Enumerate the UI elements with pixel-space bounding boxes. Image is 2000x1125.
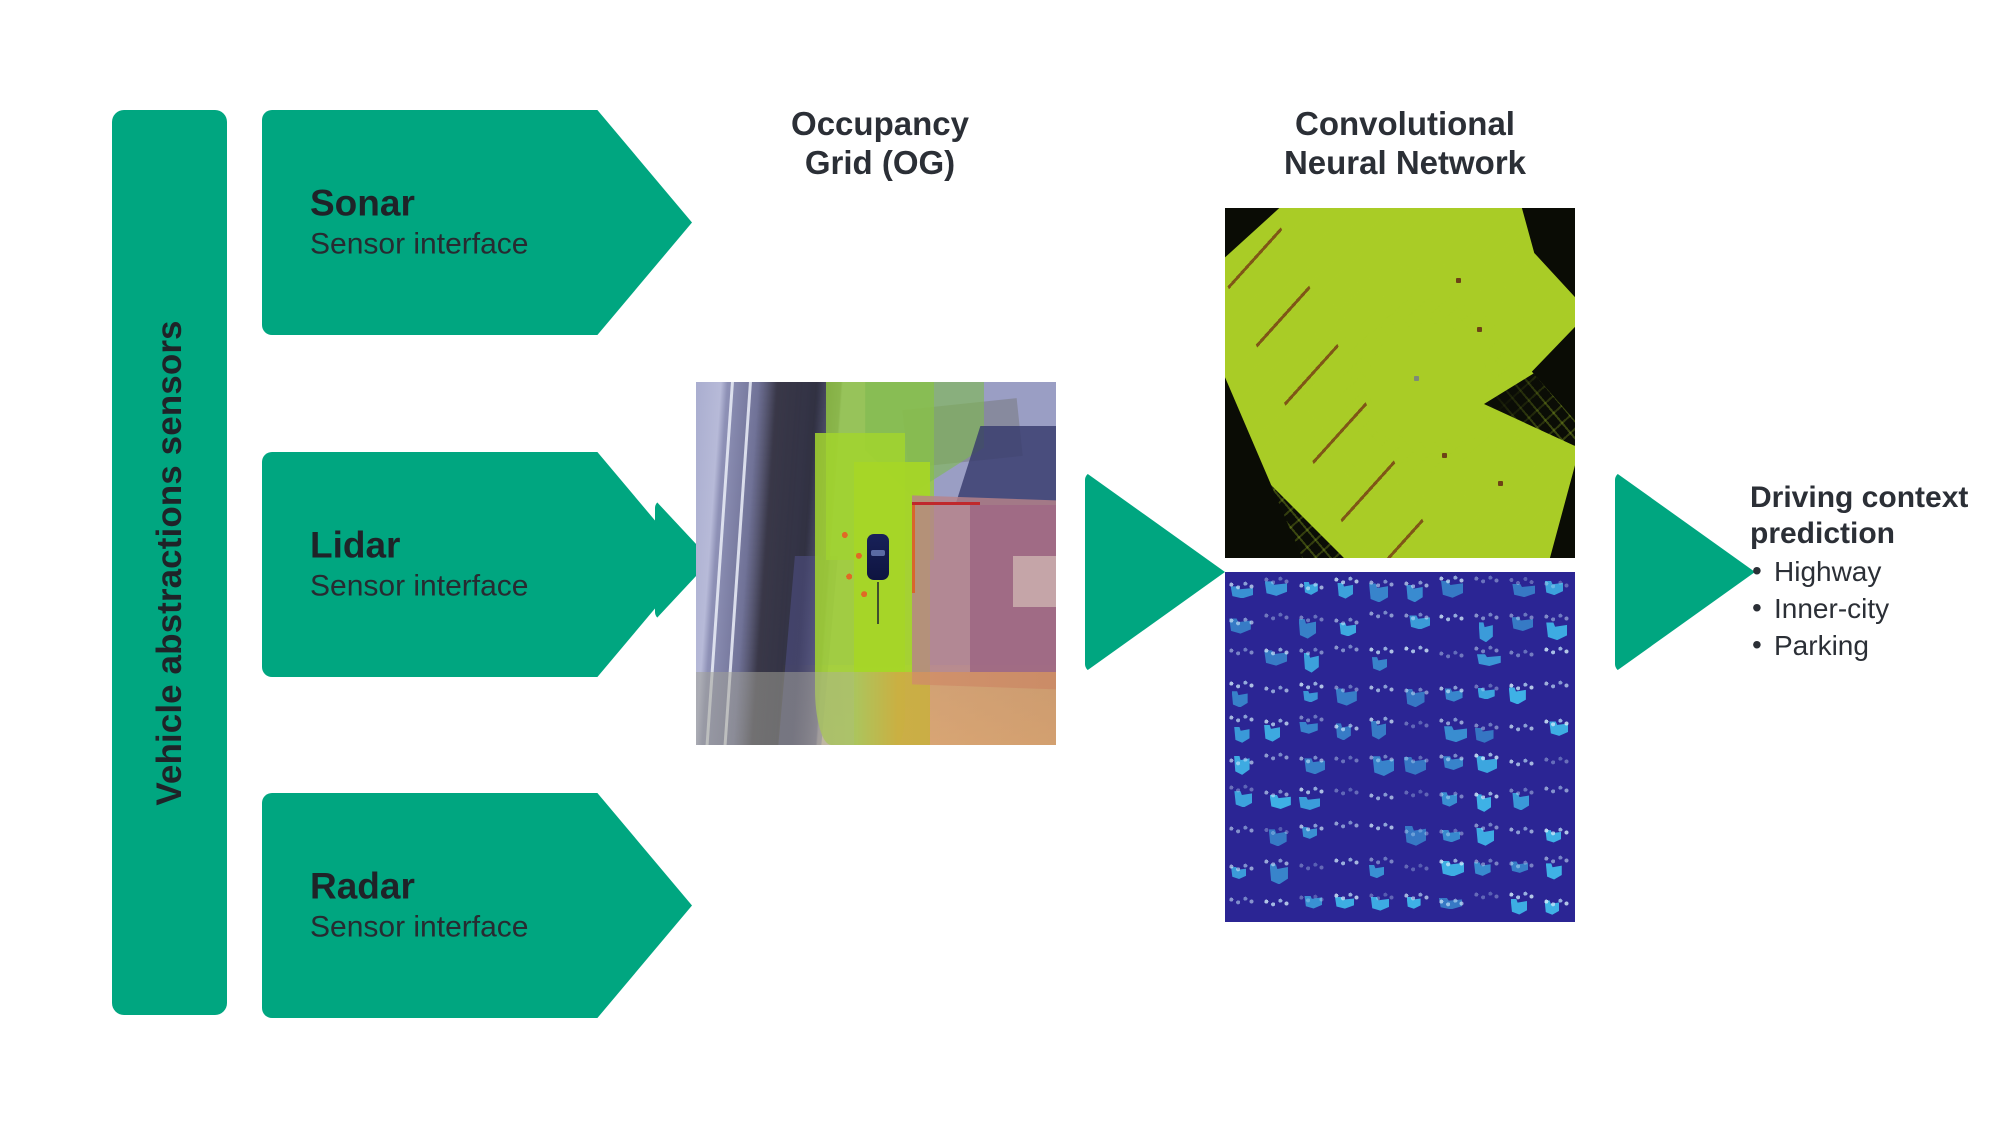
ray-dot-4 (1498, 481, 1503, 486)
cnn-feature-specks (1438, 717, 1466, 726)
cnn-feature-map-cell (1295, 747, 1330, 782)
cnn-feature-specks (1298, 614, 1326, 623)
cnn-feature-specks (1543, 613, 1571, 622)
cnn-feature-map-cell (1400, 817, 1435, 852)
cnn-feature-specks (1298, 582, 1326, 591)
cnn-feature-map-cell (1435, 782, 1470, 817)
cnn-feature-specks (1228, 617, 1256, 626)
cnn-feature-specks (1333, 857, 1361, 866)
og-occupied-edge-orange (912, 505, 915, 592)
cnn-feature-map-cell (1295, 642, 1330, 677)
cnn-feature-specks (1473, 683, 1501, 692)
cnn-feature-specks (1333, 755, 1361, 764)
cnn-feature-specks (1473, 575, 1501, 584)
cnn-feature-map-cell (1505, 887, 1540, 922)
cnn-feature-map-cell (1400, 572, 1435, 607)
cnn-feature-specks (1543, 785, 1571, 794)
cnn-feature-map-cell (1225, 677, 1260, 712)
cnn-feature-map-cell (1295, 712, 1330, 747)
og-bottom-band (696, 672, 1056, 745)
cnn-feature-specks (1403, 612, 1431, 621)
cnn-feature-specks (1263, 612, 1291, 621)
cnn-feature-specks (1368, 610, 1396, 619)
vehicle-abstractions-label: Vehicle abstractions sensors (150, 320, 190, 805)
cnn-feature-specks (1228, 647, 1256, 656)
cnn-feature-map-cell (1330, 607, 1365, 642)
cnn-feature-map-cell (1225, 852, 1260, 887)
sensor-block-sonar[interactable]: Sonar Sensor interface (262, 110, 692, 335)
cnn-feature-specks (1263, 576, 1291, 585)
driving-context-prediction-block: Driving context prediction HighwayInner-… (1750, 480, 2000, 665)
cnn-feature-map-cell (1260, 572, 1295, 607)
ray-dot-3 (1442, 453, 1447, 458)
cnn-feature-specks (1403, 645, 1431, 654)
cnn-feature-map-cell (1435, 887, 1470, 922)
cnn-feature-map-cell (1260, 712, 1295, 747)
cnn-feature-map-cell (1505, 642, 1540, 677)
cnn-feature-map-cell (1260, 607, 1295, 642)
cnn-feature-specks (1298, 647, 1326, 656)
cnn-feature-map-cell (1330, 817, 1365, 852)
occupancy-grid-caption: Occupancy Grid (OG) (700, 105, 1060, 183)
cnn-feature-blob (1304, 653, 1319, 673)
cnn-feature-map-cell (1540, 782, 1575, 817)
cnn-feature-map-cell (1400, 782, 1435, 817)
cnn-feature-blob (1299, 797, 1321, 810)
cnn-feature-map-cell (1470, 817, 1505, 852)
cnn-feature-specks (1473, 791, 1501, 800)
cnn-feature-specks (1228, 784, 1256, 793)
ray-ego-marker (1414, 376, 1419, 381)
cnn-feature-map-cell (1260, 747, 1295, 782)
cnn-feature-specks (1543, 898, 1571, 907)
cnn-feature-specks (1368, 822, 1396, 831)
cnn-feature-map-cell (1540, 747, 1575, 782)
cnn-feature-specks (1508, 758, 1536, 767)
cnn-feature-map-cell (1365, 572, 1400, 607)
cnn-feature-specks (1508, 826, 1536, 835)
og-ego-vehicle-icon (867, 534, 889, 580)
cnn-feature-blob (1299, 722, 1317, 734)
cnn-feature-specks (1228, 757, 1256, 766)
cnn-feature-specks (1298, 894, 1326, 903)
cnn-feature-specks (1298, 714, 1326, 723)
cnn-feature-specks (1333, 787, 1361, 796)
cnn-feature-specks (1368, 716, 1396, 725)
cnn-feature-map-cell (1400, 747, 1435, 782)
cnn-feature-specks (1368, 892, 1396, 901)
sensor-subtitle-radar: Sensor interface (310, 908, 528, 946)
cnn-feature-specks (1263, 718, 1291, 727)
sensor-subtitle-sonar: Sensor interface (310, 225, 528, 263)
cnn-feature-map-cell (1295, 572, 1330, 607)
cnn-feature-specks (1543, 580, 1571, 589)
cnn-feature-map-cell (1435, 712, 1470, 747)
cnn-feature-specks (1228, 581, 1256, 590)
cnn-feature-map-cell (1295, 817, 1330, 852)
cnn-feature-specks (1438, 575, 1466, 584)
cnn-feature-map-cell (1225, 712, 1260, 747)
og-ego-trajectory (877, 582, 879, 624)
cnn-feature-specks (1473, 645, 1501, 654)
cnn-feature-specks (1298, 862, 1326, 871)
cnn-feature-specks (1298, 681, 1326, 690)
cnn-feature-specks (1298, 786, 1326, 795)
cnn-feature-map-cell (1505, 852, 1540, 887)
cnn-feature-blob (1303, 691, 1318, 703)
cnn-feature-map-cell (1505, 747, 1540, 782)
cnn-feature-blob (1546, 863, 1562, 879)
cnn-feature-map-cell (1400, 887, 1435, 922)
cnn-feature-specks (1473, 612, 1501, 621)
cnn-ray-canvas (1225, 208, 1575, 558)
cnn-feature-map-cell (1225, 607, 1260, 642)
cnn-feature-map-cell (1470, 642, 1505, 677)
cnn-feature-map-cell (1400, 852, 1435, 887)
cnn-feature-map-cell (1470, 712, 1505, 747)
cnn-feature-specks (1438, 613, 1466, 622)
cnn-feature-specks (1403, 789, 1431, 798)
cnn-feature-specks (1298, 823, 1326, 832)
cnn-feature-blob (1369, 865, 1384, 878)
cnn-feature-map-cell (1365, 852, 1400, 887)
cnn-feature-specks (1333, 892, 1361, 901)
cnn-feature-map-cell (1330, 677, 1365, 712)
cnn-feature-specks (1403, 828, 1431, 837)
cnn-feature-blob (1479, 622, 1493, 642)
sensor-block-radar-text: Radar Sensor interface (310, 865, 528, 946)
cnn-feature-map-cell (1505, 572, 1540, 607)
cnn-feature-map-cell (1330, 747, 1365, 782)
cnn-feature-specks (1333, 684, 1361, 693)
sensor-name-radar: Radar (310, 865, 528, 906)
cnn-feature-specks (1333, 723, 1361, 732)
cnn-feature-map-cell (1365, 747, 1400, 782)
sensor-block-radar[interactable]: Radar Sensor interface (262, 793, 692, 1018)
cnn-feature-map-cell (1540, 642, 1575, 677)
cnn-feature-map-cell (1365, 712, 1400, 747)
cnn-feature-blob (1372, 657, 1387, 671)
cnn-feature-specks (1403, 580, 1431, 589)
cnn-feature-map-cell (1435, 607, 1470, 642)
cnn-feature-specks (1438, 791, 1466, 800)
cnn-feature-specks (1543, 827, 1571, 836)
cnn-feature-map-cell (1330, 712, 1365, 747)
cnn-feature-specks (1263, 647, 1291, 656)
cnn-feature-map-cell (1505, 607, 1540, 642)
cnn-feature-specks (1438, 650, 1466, 659)
cnn-feature-specks (1263, 685, 1291, 694)
output-title: Driving context prediction (1750, 480, 2000, 552)
cnn-feature-specks (1333, 617, 1361, 626)
cnn-feature-specks (1368, 792, 1396, 801)
cnn-feature-blob (1264, 725, 1280, 742)
occupancy-grid-caption-line1: Occupancy (700, 105, 1060, 144)
cnn-feature-specks (1438, 858, 1466, 867)
cnn-feature-specks (1543, 680, 1571, 689)
occupancy-grid-caption-line2: Grid (OG) (700, 144, 1060, 183)
cnn-feature-specks (1263, 789, 1291, 798)
cnn-feature-specks (1473, 858, 1501, 867)
cnn-feature-specks (1403, 720, 1431, 729)
cnn-feature-map-cell (1295, 677, 1330, 712)
cnn-feature-map-cell (1505, 712, 1540, 747)
cnn-feature-specks (1508, 612, 1536, 621)
cnn-caption-line1: Convolutional (1200, 105, 1610, 144)
cnn-feature-map-cell (1505, 677, 1540, 712)
cnn-feature-specks (1333, 644, 1361, 653)
sensor-name-sonar: Sonar (310, 182, 528, 223)
vehicle-abstractions-bar: Vehicle abstractions sensors (112, 110, 227, 1015)
cnn-feature-specks (1508, 682, 1536, 691)
cnn-feature-map-cell (1540, 572, 1575, 607)
cnn-feature-specks (1403, 863, 1431, 872)
cnn-feature-map-cell (1540, 817, 1575, 852)
cnn-feature-map-cell (1435, 642, 1470, 677)
sensor-subtitle-lidar: Sensor interface (310, 567, 528, 605)
cnn-feature-specks (1508, 649, 1536, 658)
cnn-feature-blob (1477, 654, 1501, 666)
sensor-block-sonar-text: Sonar Sensor interface (310, 182, 528, 263)
cnn-feature-specks (1333, 820, 1361, 829)
cnn-feature-map-cell (1435, 852, 1470, 887)
cnn-feature-specks (1228, 680, 1256, 689)
cnn-feature-map-cell (1470, 852, 1505, 887)
cnn-feature-map-cell (1470, 887, 1505, 922)
ray-dot-2 (1477, 327, 1482, 332)
cnn-feature-specks (1228, 863, 1256, 872)
cnn-caption-line2: Neural Network (1200, 144, 1610, 183)
cnn-feature-map-cell (1260, 817, 1295, 852)
arrow-right-icon-og-to-cnn (1085, 472, 1225, 672)
cnn-feature-map-cell (1505, 782, 1540, 817)
cnn-feature-map-cell (1295, 607, 1330, 642)
cnn-feature-map-cell (1470, 747, 1505, 782)
output-context-list: HighwayInner-cityParking (1750, 554, 2000, 665)
cnn-feature-map-grid (1225, 572, 1575, 922)
cnn-feature-blob (1234, 727, 1249, 743)
cnn-feature-specks (1368, 856, 1396, 865)
cnn-feature-specks (1403, 687, 1431, 696)
cnn-feature-specks (1473, 722, 1501, 731)
cnn-feature-specks (1508, 860, 1536, 869)
cnn-feature-map-cell (1260, 782, 1295, 817)
cnn-feature-map-cell (1540, 712, 1575, 747)
cnn-feature-specks (1438, 685, 1466, 694)
cnn-feature-map-cell (1330, 782, 1365, 817)
cnn-feature-blob (1444, 726, 1467, 742)
cnn-feature-specks (1368, 684, 1396, 693)
sensor-block-lidar-text: Lidar Sensor interface (310, 524, 528, 605)
cnn-feature-map-cell (1540, 852, 1575, 887)
cnn-feature-map-cell (1540, 887, 1575, 922)
cnn-feature-specks (1403, 892, 1431, 901)
cnn-feature-map-cell (1435, 677, 1470, 712)
cnn-feature-specks (1473, 822, 1501, 831)
cnn-feature-specks (1508, 723, 1536, 732)
cnn-feature-specks (1508, 891, 1536, 900)
output-context-item: Highway (1750, 554, 2000, 591)
og-building-3 (1013, 556, 1056, 607)
cnn-feature-map-cell (1435, 747, 1470, 782)
cnn-feature-map-cell (1470, 677, 1505, 712)
cnn-feature-specks (1263, 752, 1291, 761)
diagram-canvas: Vehicle abstractions sensors Sonar Senso… (0, 0, 2000, 1125)
cnn-caption: Convolutional Neural Network (1200, 105, 1610, 183)
cnn-feature-specks (1473, 752, 1501, 761)
cnn-feature-map-cell (1470, 607, 1505, 642)
cnn-feature-map-cell (1295, 887, 1330, 922)
cnn-feature-map-cell (1365, 887, 1400, 922)
occupancy-grid-image (696, 382, 1056, 745)
cnn-feature-map-cell (1330, 852, 1365, 887)
cnn-feature-specks (1403, 755, 1431, 764)
cnn-feature-map-cell (1365, 817, 1400, 852)
cnn-feature-maps-image (1225, 572, 1575, 922)
arrow-right-icon-cnn-to-output (1615, 472, 1755, 672)
output-title-line2: prediction (1750, 516, 2000, 552)
cnn-feature-map-cell (1330, 887, 1365, 922)
cnn-feature-blob (1232, 691, 1248, 707)
cnn-feature-map-cell (1225, 642, 1260, 677)
cnn-feature-specks (1263, 858, 1291, 867)
cnn-feature-specks (1543, 646, 1571, 655)
cnn-feature-specks (1368, 579, 1396, 588)
ray-dot-1 (1456, 278, 1461, 283)
cnn-feature-map-cell (1225, 572, 1260, 607)
og-occupied-edge-red (912, 502, 980, 505)
sensor-block-lidar[interactable]: Lidar Sensor interface (262, 452, 692, 677)
cnn-feature-map-cell (1225, 817, 1260, 852)
cnn-feature-map-cell (1435, 817, 1470, 852)
cnn-feature-map-cell (1365, 607, 1400, 642)
cnn-feature-specks (1368, 646, 1396, 655)
cnn-feature-map-cell (1365, 782, 1400, 817)
cnn-feature-map-cell (1470, 572, 1505, 607)
cnn-feature-map-cell (1365, 642, 1400, 677)
cnn-feature-map-cell (1260, 677, 1295, 712)
cnn-feature-specks (1263, 826, 1291, 835)
cnn-feature-map-cell (1400, 607, 1435, 642)
cnn-feature-map-cell (1435, 572, 1470, 607)
cnn-feature-map-cell (1260, 852, 1295, 887)
output-title-line1: Driving context (1750, 480, 2000, 516)
cnn-feature-map-cell (1225, 747, 1260, 782)
cnn-input-occupancy-image (1225, 208, 1575, 558)
cnn-feature-map-cell (1540, 607, 1575, 642)
cnn-feature-specks (1438, 753, 1466, 762)
cnn-feature-specks (1263, 898, 1291, 907)
cnn-feature-specks (1298, 755, 1326, 764)
cnn-feature-map-cell (1330, 642, 1365, 677)
cnn-feature-specks (1228, 896, 1256, 905)
cnn-feature-blob (1234, 791, 1252, 807)
cnn-feature-specks (1508, 576, 1536, 585)
cnn-feature-blob (1512, 584, 1535, 597)
cnn-feature-specks (1228, 825, 1256, 834)
cnn-feature-map-cell (1295, 782, 1330, 817)
cnn-feature-blob (1511, 899, 1528, 915)
cnn-feature-map-cell (1260, 642, 1295, 677)
cnn-feature-specks (1543, 756, 1571, 765)
output-context-item: Parking (1750, 628, 2000, 665)
cnn-feature-map-cell (1330, 572, 1365, 607)
cnn-feature-specks (1543, 718, 1571, 727)
cnn-feature-specks (1228, 714, 1256, 723)
cnn-feature-specks (1438, 828, 1466, 837)
cnn-feature-map-cell (1260, 887, 1295, 922)
cnn-feature-specks (1438, 898, 1466, 907)
cnn-feature-blob (1546, 622, 1567, 640)
cnn-feature-map-cell (1470, 782, 1505, 817)
cnn-feature-specks (1368, 754, 1396, 763)
cnn-feature-specks (1333, 576, 1361, 585)
cnn-feature-map-cell (1505, 817, 1540, 852)
sensor-name-lidar: Lidar (310, 524, 528, 565)
cnn-feature-map-cell (1400, 712, 1435, 747)
cnn-feature-map-cell (1365, 677, 1400, 712)
cnn-feature-map-cell (1400, 642, 1435, 677)
cnn-feature-map-cell (1225, 782, 1260, 817)
cnn-feature-specks (1473, 891, 1501, 900)
cnn-feature-map-cell (1295, 852, 1330, 887)
cnn-feature-map-cell (1225, 887, 1260, 922)
output-context-item: Inner-city (1750, 591, 2000, 628)
cnn-feature-specks (1543, 855, 1571, 864)
cnn-feature-map-cell (1540, 677, 1575, 712)
cnn-feature-map-cell (1400, 677, 1435, 712)
cnn-feature-specks (1508, 787, 1536, 796)
